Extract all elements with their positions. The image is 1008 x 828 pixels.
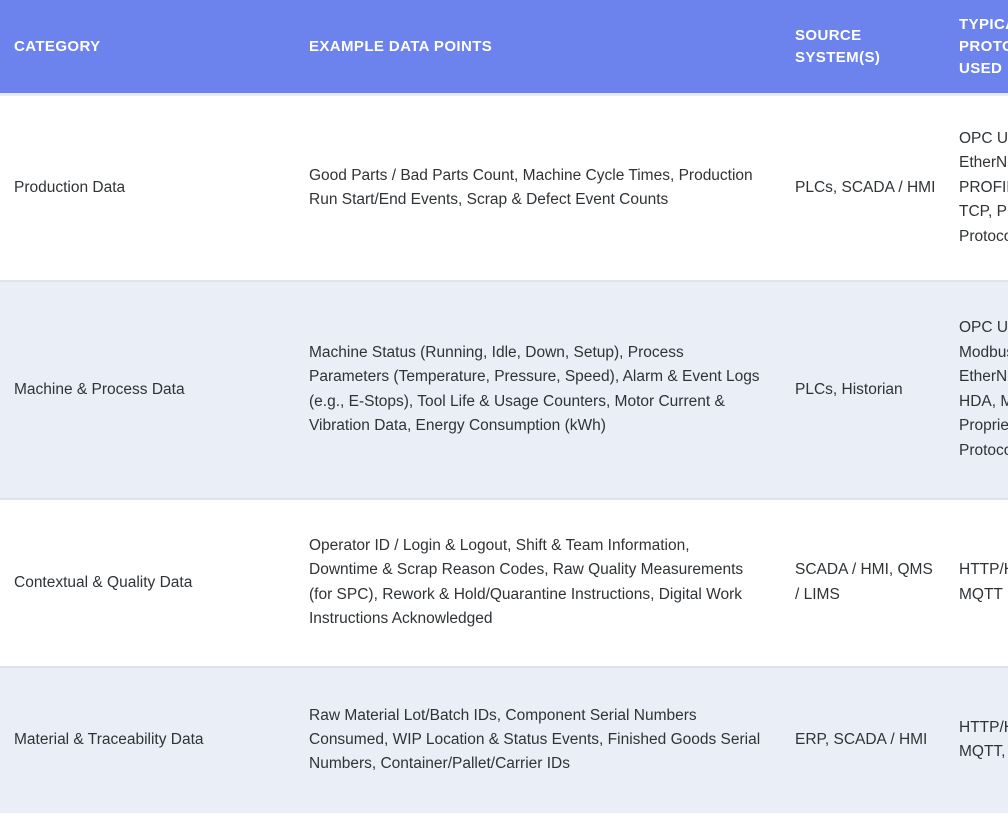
cell-typical-protocols-used: OPC UA/DA, Modbus TCP, EtherNet/IP, OPC … xyxy=(947,281,1008,499)
manufacturing-data-table: CATEGORY EXAMPLE DATA POINTS SOURCE SYST… xyxy=(0,0,1008,813)
table-container: CATEGORY EXAMPLE DATA POINTS SOURCE SYST… xyxy=(0,0,1008,828)
cell-category: Contextual & Quality Data xyxy=(0,499,298,667)
cell-source-systems: ERP, SCADA / HMI xyxy=(783,667,947,813)
cell-category: Production Data xyxy=(0,95,298,281)
cell-example-data-points: Good Parts / Bad Parts Count, Machine Cy… xyxy=(298,95,783,281)
cell-typical-protocols-used: HTTP/HTTPS, MQTT xyxy=(947,499,1008,667)
column-header-typical-protocols-used-label: TYPICAL PROTOCOLS USED xyxy=(959,14,1008,79)
cell-category: Material & Traceability Data xyxy=(0,667,298,813)
table-header: CATEGORY EXAMPLE DATA POINTS SOURCE SYST… xyxy=(0,0,1008,95)
table-row: Contextual & Quality Data Operator ID / … xyxy=(0,499,1008,667)
cell-source-systems: SCADA / HMI, QMS / LIMS xyxy=(783,499,947,667)
column-header-typical-protocols-used[interactable]: TYPICAL PROTOCOLS USED xyxy=(947,0,1008,95)
column-header-category-label: CATEGORY xyxy=(14,36,284,58)
cell-typical-protocols-used: HTTP/HTTPS, MQTT, OPC UA xyxy=(947,667,1008,813)
column-header-source-systems[interactable]: SOURCE SYSTEM(S) xyxy=(783,0,947,95)
column-header-category[interactable]: CATEGORY xyxy=(0,0,298,95)
cell-example-data-points: Raw Material Lot/Batch IDs, Component Se… xyxy=(298,667,783,813)
column-header-example-data-points[interactable]: EXAMPLE DATA POINTS xyxy=(298,0,783,95)
table-row: Production Data Good Parts / Bad Parts C… xyxy=(0,95,1008,281)
cell-category: Machine & Process Data xyxy=(0,281,298,499)
cell-typical-protocols-used: OPC UA/DA, EtherNet/IP, PROFINET, Modbus… xyxy=(947,95,1008,281)
table-row: Material & Traceability Data Raw Materia… xyxy=(0,667,1008,813)
table-body: Production Data Good Parts / Bad Parts C… xyxy=(0,95,1008,813)
cell-source-systems: PLCs, Historian xyxy=(783,281,947,499)
table-row: Machine & Process Data Machine Status (R… xyxy=(0,281,1008,499)
cell-source-systems: PLCs, SCADA / HMI xyxy=(783,95,947,281)
cell-example-data-points: Machine Status (Running, Idle, Down, Set… xyxy=(298,281,783,499)
cell-example-data-points: Operator ID / Login & Logout, Shift & Te… xyxy=(298,499,783,667)
table-header-row: CATEGORY EXAMPLE DATA POINTS SOURCE SYST… xyxy=(0,0,1008,95)
column-header-example-data-points-label: EXAMPLE DATA POINTS xyxy=(309,36,769,58)
column-header-source-systems-label: SOURCE SYSTEM(S) xyxy=(795,25,933,69)
